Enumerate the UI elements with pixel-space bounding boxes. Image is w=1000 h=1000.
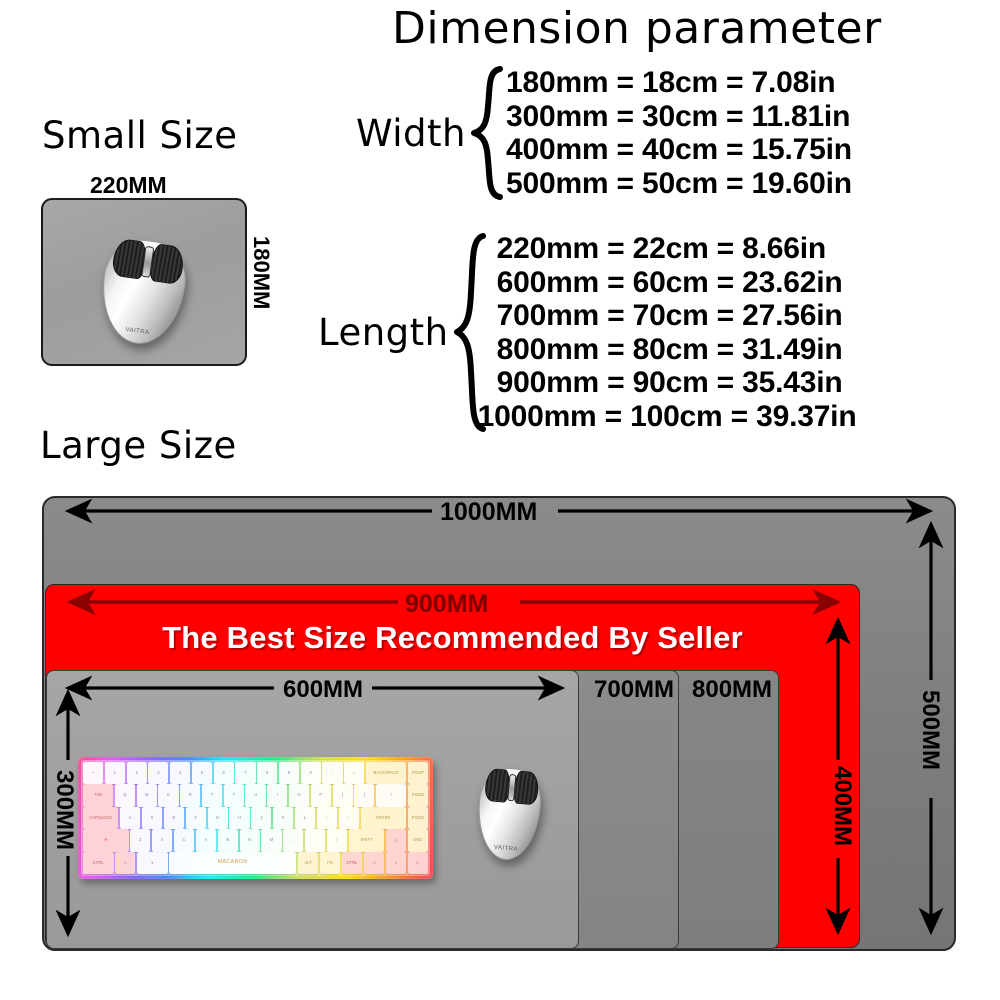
key: X — [152, 829, 172, 851]
small-pad-height-label: 180MM — [248, 236, 274, 309]
spec-row: 800mm = 80cm = 31.49in — [497, 333, 857, 367]
label-500mm: 500MM — [916, 690, 944, 770]
key: Q — [115, 784, 135, 806]
key: 2 — [127, 762, 147, 784]
key: 3 — [148, 762, 168, 784]
key: 7 — [235, 762, 255, 784]
key: 5 — [192, 762, 212, 784]
key: ' — [339, 807, 359, 829]
label-1000mm: 1000MM — [440, 498, 537, 527]
key: ] — [354, 784, 374, 806]
key-fn-right: FN — [320, 852, 340, 874]
key: F — [186, 807, 206, 829]
keyboard-row: CTRL ♫ ▾ MACARON ALT FN CTRL ◁ ▿ ▷ — [83, 852, 428, 874]
key-pgdn: PGDN — [408, 784, 428, 806]
key-alt-right: ALT — [298, 852, 318, 874]
key: J — [251, 807, 271, 829]
key: C — [174, 829, 194, 851]
spec-row: 600mm = 60cm = 23.62in — [497, 266, 857, 300]
keyboard-row: TAB Q W E R T Y U I O P [ ] \ PGDN — [83, 784, 428, 806]
spec-row: 500mm = 50cm = 19.60in — [506, 167, 852, 201]
label-700mm: 700MM — [594, 676, 674, 704]
key: K — [273, 807, 293, 829]
key: G — [208, 807, 228, 829]
key-arrow-right: ▷ — [408, 852, 428, 874]
key-pgup: PGUP — [408, 762, 428, 784]
spec-rows-length: 220mm = 22cm = 8.66in 600mm = 60cm = 23.… — [497, 232, 857, 433]
keyboard-illustration: ~ 1 2 3 4 5 6 7 8 9 0 - = BACKSPACE PGUP… — [78, 757, 433, 879]
key-backslash: \ — [376, 784, 406, 806]
key: I — [267, 784, 287, 806]
key: ; — [317, 807, 337, 829]
key-pgdn: PGDN — [408, 807, 428, 829]
keyboard-row: 🌸 Z X C V B N M , . / SHIFT △ END — [83, 829, 428, 851]
key: 9 — [279, 762, 299, 784]
label-300mm: 300MM — [50, 770, 78, 850]
keyboard-keys: ~ 1 2 3 4 5 6 7 8 9 0 - = BACKSPACE PGUP… — [81, 760, 430, 876]
key-ctrl-right: CTRL — [342, 852, 362, 874]
curly-brace-icon — [470, 66, 504, 200]
key: W — [137, 784, 157, 806]
key: 1 — [105, 762, 125, 784]
page-title: Dimension parameter — [392, 2, 882, 56]
key: O — [289, 784, 309, 806]
key: 0 — [301, 762, 321, 784]
key-backspace: BACKSPACE — [366, 762, 406, 784]
recommendation-banner-text: The Best Size Recommended By Seller — [45, 620, 860, 656]
key: D — [164, 807, 184, 829]
key: V — [196, 829, 216, 851]
key-arrow-up: △ — [386, 829, 406, 851]
spec-row: 700mm = 70cm = 27.56in — [497, 299, 857, 333]
spec-row: 900mm = 90cm = 35.43in — [497, 366, 857, 400]
key: , — [283, 829, 303, 851]
key: 6 — [214, 762, 234, 784]
mouse-illustration-small: VAITRA — [95, 235, 191, 349]
key: B — [218, 829, 238, 851]
mouse-illustration-large: VAITRA — [474, 765, 544, 862]
key: E — [158, 784, 178, 806]
curly-brace-icon — [453, 232, 487, 432]
key: 4 — [170, 762, 190, 784]
large-size-title: Large Size — [40, 424, 237, 467]
spec-label-length: Length — [318, 314, 449, 351]
key: Z — [130, 829, 150, 851]
label-400mm: 400MM — [828, 766, 856, 846]
keyboard-row: ~ 1 2 3 4 5 6 7 8 9 0 - = BACKSPACE PGUP — [83, 762, 428, 784]
key-shift-right: SHIFT — [349, 829, 384, 851]
key: - — [322, 762, 342, 784]
key-enter: ENTER — [361, 807, 407, 829]
spec-row: 400mm = 40cm = 15.75in — [506, 133, 852, 167]
key: P — [311, 784, 331, 806]
key: M — [261, 829, 281, 851]
spec-group-width: Width 180mm = 18cm = 7.08in 300mm = 30cm… — [356, 66, 852, 200]
spec-row: 180mm = 18cm = 7.08in — [506, 66, 852, 100]
key: Y — [224, 784, 244, 806]
label-600mm: 600MM — [283, 676, 363, 704]
key-end: END — [408, 829, 428, 851]
spec-row: 1000mm = 100cm = 39.37in — [478, 400, 857, 434]
spec-label-width: Width — [356, 115, 466, 152]
key: U — [245, 784, 265, 806]
small-pad-width-label: 220MM — [90, 172, 167, 199]
key: R — [180, 784, 200, 806]
small-size-title: Small Size — [42, 114, 237, 157]
key: 8 — [257, 762, 277, 784]
key: . — [305, 829, 325, 851]
key: T — [202, 784, 222, 806]
label-800mm: 800MM — [692, 676, 772, 704]
spec-row: 220mm = 22cm = 8.66in — [497, 232, 857, 266]
key: [ — [333, 784, 353, 806]
key: H — [229, 807, 249, 829]
key: / — [327, 829, 347, 851]
key-capslock: CAPSLOCK — [83, 807, 118, 829]
key-fn: ♫ — [115, 852, 135, 874]
key-arrow-down: ▿ — [386, 852, 406, 874]
spec-group-length: Length 220mm = 22cm = 8.66in 600mm = 60c… — [318, 232, 856, 433]
key: ~ — [83, 762, 103, 784]
spec-row: 300mm = 30cm = 11.81in — [506, 100, 852, 134]
key-tab: TAB — [83, 784, 113, 806]
key: S — [142, 807, 162, 829]
key-spacebar: MACARON — [169, 852, 296, 874]
key-shift-left: 🌸 — [83, 829, 129, 851]
keyboard-row: CAPSLOCK A S D F G H J K L ; ' ENTER PGD… — [83, 807, 428, 829]
key: N — [240, 829, 260, 851]
key: A — [120, 807, 140, 829]
label-900mm: 900MM — [405, 590, 488, 619]
key: L — [295, 807, 315, 829]
key-alt-left: ▾ — [137, 852, 168, 874]
key-arrow-left: ◁ — [364, 852, 384, 874]
spec-rows-width: 180mm = 18cm = 7.08in 300mm = 30cm = 11.… — [506, 66, 852, 200]
key-ctrl-left: CTRL — [83, 852, 114, 874]
key: = — [344, 762, 364, 784]
